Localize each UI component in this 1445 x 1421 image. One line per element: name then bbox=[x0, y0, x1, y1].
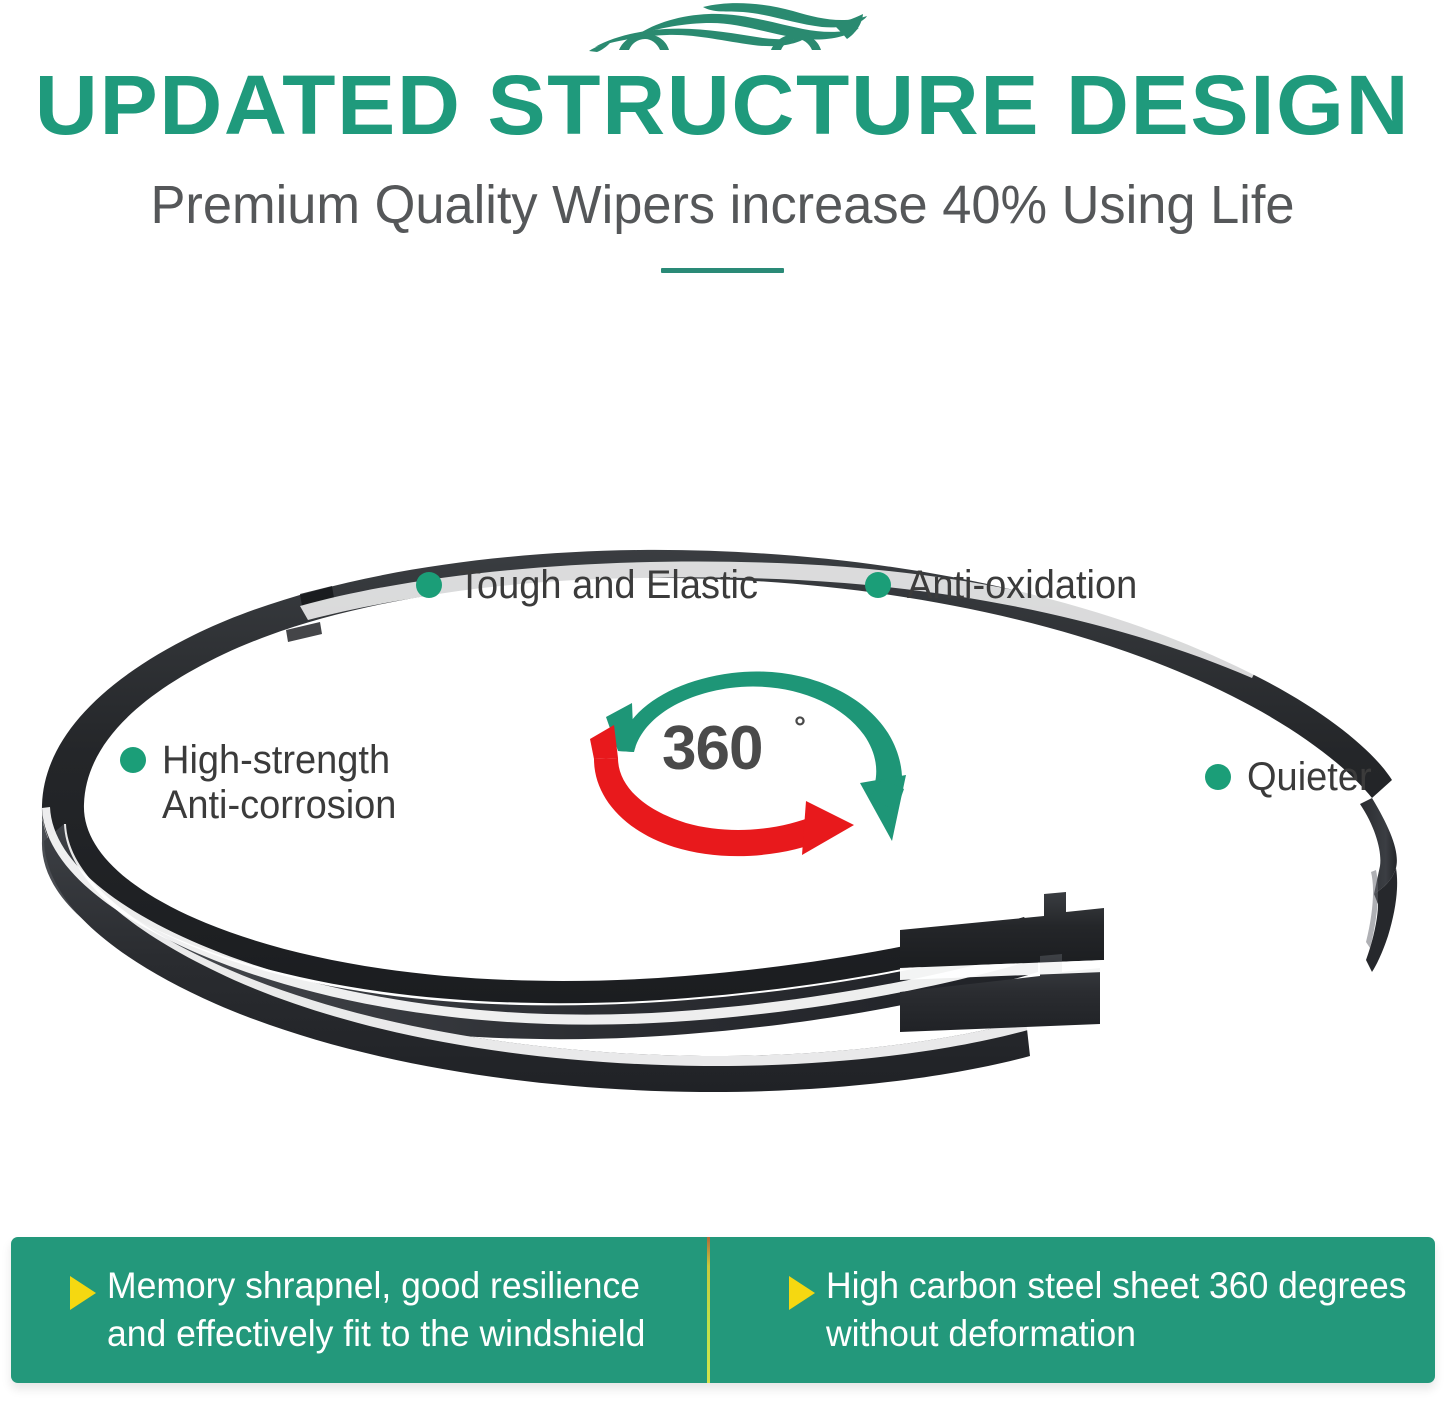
feature-banner: Memory shrapnel, good resilience and eff… bbox=[11, 1237, 1435, 1383]
badge-degree-symbol: ° bbox=[794, 711, 806, 745]
badge-number: 360 bbox=[662, 718, 762, 780]
sports-car-silhouette-icon bbox=[575, 2, 885, 58]
feature-label: High-strength Anti-corrosion bbox=[162, 738, 396, 828]
feature-label: Anti-oxidation bbox=[907, 563, 1137, 608]
rotation-360-badge: 360 ° bbox=[570, 655, 930, 865]
feature-label: Quieter bbox=[1247, 755, 1372, 800]
triangle-right-icon bbox=[789, 1276, 815, 1310]
bullet-dot-icon bbox=[416, 572, 442, 598]
bullet-dot-icon bbox=[120, 747, 146, 773]
bullet-dot-icon bbox=[1205, 764, 1231, 790]
banner-item-text: Memory shrapnel, good resilience and eff… bbox=[107, 1262, 645, 1358]
banner-item-high-carbon-steel: High carbon steel sheet 360 degrees with… bbox=[723, 1237, 1435, 1383]
banner-divider bbox=[707, 1237, 710, 1383]
feature-label: Tough and Elastic bbox=[458, 563, 758, 608]
feature-quieter: Quieter bbox=[1205, 755, 1378, 800]
infographic-page: UPDATED STRUCTURE DESIGN Premium Quality… bbox=[0, 0, 1445, 1421]
page-title: UPDATED STRUCTURE DESIGN bbox=[0, 60, 1445, 150]
steel-strip-end-upper bbox=[900, 892, 1104, 968]
feature-tough-and-elastic: Tough and Elastic bbox=[416, 563, 774, 608]
bullet-dot-icon bbox=[865, 572, 891, 598]
feature-high-strength-anti-corrosion: High-strength Anti-corrosion bbox=[120, 738, 409, 828]
triangle-right-icon bbox=[70, 1276, 96, 1310]
page-subtitle: Premium Quality Wipers increase 40% Usin… bbox=[22, 174, 1424, 236]
feature-anti-oxidation: Anti-oxidation bbox=[865, 563, 1149, 608]
banner-item-memory-shrapnel: Memory shrapnel, good resilience and eff… bbox=[11, 1237, 723, 1383]
banner-item-text: High carbon steel sheet 360 degrees with… bbox=[826, 1262, 1407, 1358]
title-divider bbox=[661, 268, 784, 273]
